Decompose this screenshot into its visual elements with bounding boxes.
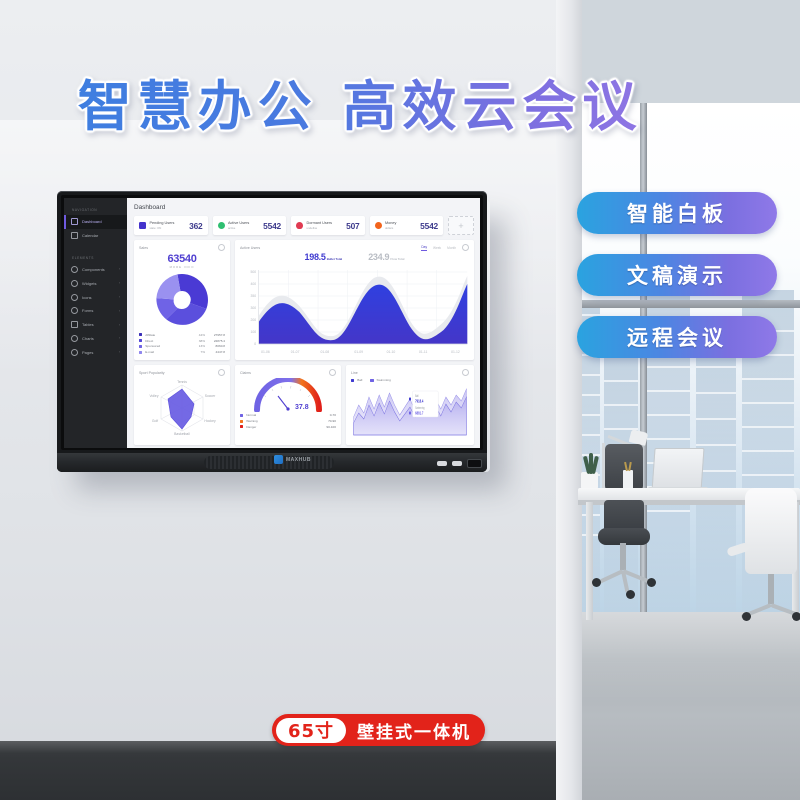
forms-icon: [71, 307, 78, 314]
svg-text:Soccer: Soccer: [205, 394, 216, 398]
stat-card-pending-users[interactable]: Pending Users state: ON 362: [134, 216, 208, 235]
sidebar-spacer: [64, 243, 127, 252]
main-content: Dashboard Pending Users state: ON 362: [127, 198, 480, 448]
sidebar-item-label: Components: [82, 267, 105, 272]
chart-row-2: Sport Popularity: [134, 365, 474, 445]
total-number: 234.9: [368, 252, 389, 262]
donut-chart-svg: [153, 271, 211, 329]
office-chair-white-back: [745, 488, 797, 574]
pen-cup: [623, 470, 633, 490]
chevron-right-icon: ›: [119, 350, 120, 354]
components-icon: [71, 266, 78, 273]
legend-label: E-mail: [145, 350, 191, 354]
page-heading: Dashboard: [134, 204, 474, 211]
legend-label: Ball: [357, 378, 362, 382]
legend-percent: 13%: [191, 344, 205, 348]
dormant-users-icon: [296, 222, 303, 229]
sidebar-item-label: Dashboard: [82, 219, 102, 224]
add-card-button[interactable]: +: [448, 216, 474, 235]
sidebar-item-label: Tables: [82, 322, 94, 327]
svg-text:350: 350: [250, 294, 256, 298]
stat-label: Active Users active: [228, 221, 249, 230]
stat-label: Pending Users state: ON: [150, 221, 175, 230]
svg-text:Tennis: Tennis: [177, 380, 187, 384]
sidebar-section-elements: ELEMENTS: [64, 252, 127, 263]
line-chart-card: Line Ball Swimming: [346, 365, 474, 445]
legend-label: Direct: [145, 339, 191, 343]
stat-subtitle: undefine: [307, 226, 318, 230]
feature-pill-presentation[interactable]: 文稿演示: [577, 254, 777, 296]
chair-caster-2: [592, 578, 601, 587]
chevron-right-icon: ›: [119, 309, 120, 313]
pages-icon: [71, 349, 78, 356]
widgets-icon: [71, 280, 78, 287]
office-floor-sheen: [556, 612, 800, 702]
card-header: Line: [351, 369, 469, 376]
sidebar-item-icons[interactable]: Icons ›: [64, 290, 127, 304]
totals-row: 198.5 Bullet Total 234.9 Flow Total: [240, 253, 469, 262]
sidebar-item-dashboard[interactable]: Dashboard: [64, 215, 127, 229]
sidebar-item-forms[interactable]: Forms ›: [64, 304, 127, 318]
legend-swatch: [240, 425, 243, 428]
svg-text:200: 200: [250, 318, 256, 322]
sidebar-item-label: Charts: [82, 336, 94, 341]
stat-value: 5542: [263, 221, 281, 231]
svg-text:Hockey: Hockey: [204, 419, 216, 423]
stat-title: Pending Users: [150, 221, 175, 225]
stat-value: 5542: [420, 221, 438, 231]
stat-card-money[interactable]: Money dollars 5542: [370, 216, 444, 235]
total-label: Bullet Total: [327, 257, 343, 261]
stat-card-dormant-users[interactable]: Dormant Users undefine 507: [291, 216, 365, 235]
legend-label: Normal: [246, 413, 316, 417]
card-header: Sport Popularity: [139, 369, 225, 376]
stat-label: Money dollars: [385, 221, 396, 230]
card-header: Sales: [139, 244, 225, 251]
poster-canvas: 智慧办公 高效云会议 智能白板 文稿演示 远程会议 65寸 壁挂式一体机 NAV…: [0, 0, 800, 800]
feature-pill-list: 智能白板 文稿演示 远程会议: [577, 192, 777, 378]
stat-subtitle: active: [228, 226, 235, 230]
svg-text:01-08: 01-08: [320, 350, 329, 354]
svg-text:0: 0: [254, 342, 256, 346]
sidebar-item-label: Icons: [82, 295, 92, 300]
svg-text:01-11: 01-11: [419, 350, 427, 354]
flow-total: 234.9 Flow Total: [368, 253, 404, 262]
legend-item-email: E-mail 7% 4447.8: [139, 349, 225, 355]
chair-caster-1: [647, 578, 656, 587]
gear-icon[interactable]: [462, 244, 469, 251]
legend-percent: 7%: [191, 350, 205, 354]
tab-week[interactable]: Week: [433, 246, 441, 250]
chevron-right-icon: ›: [119, 267, 120, 271]
legend-label: Sponsored: [145, 344, 191, 348]
brand-logo: MAXHUB: [274, 455, 311, 464]
legend-label: Swimming: [377, 378, 391, 382]
feature-pill-whiteboard[interactable]: 智能白板: [577, 192, 777, 234]
active-users-area-chart: 500400350 300200100 0 01-0601-0701-08 01…: [240, 264, 469, 356]
legend-swatch: [370, 379, 373, 382]
legend-percent: 38%: [191, 339, 205, 343]
legend-value: 4447.8: [205, 350, 225, 354]
logo-text: MAXHUB: [286, 457, 311, 463]
tab-day[interactable]: Day: [421, 245, 427, 251]
legend-swatch: [240, 414, 243, 417]
sidebar-item-calendar[interactable]: Calendar: [64, 229, 127, 243]
total-label: Flow Total: [390, 257, 404, 261]
chart-row-1: Sales 63540 MORE INFO: [134, 240, 474, 360]
laptop-screen: [651, 448, 704, 492]
badge-type-label: 壁挂式一体机: [357, 718, 471, 743]
gauge-legend-danger: Danger 90-100: [240, 424, 336, 430]
stat-value: 362: [189, 221, 202, 231]
stat-card-row: Pending Users state: ON 362 Active Users…: [134, 216, 474, 235]
hdmi-port: [467, 459, 482, 468]
pending-users-icon: [139, 222, 146, 229]
gear-icon[interactable]: [462, 369, 469, 376]
legend-swatch: [351, 379, 354, 382]
svg-text:01-10: 01-10: [387, 350, 396, 354]
chevron-right-icon: ›: [119, 281, 120, 285]
bullet-total: 198.5 Bullet Total: [305, 253, 343, 262]
svg-text:400: 400: [250, 282, 256, 286]
radar-chart: Tennis Soccer Hockey Basketball Golf Vol…: [139, 378, 225, 436]
stat-subtitle: state: ON: [150, 226, 162, 230]
sidebar-item-tables[interactable]: Tables ›: [64, 318, 127, 332]
donut-chart: [139, 271, 225, 329]
sidebar-item-label: Pages: [82, 350, 93, 355]
feature-pill-remote-meeting[interactable]: 远程会议: [577, 316, 777, 358]
sidebar-item-label: Calendar: [82, 233, 98, 238]
chair-caster-3: [626, 590, 635, 599]
charts-icon: [71, 335, 78, 342]
tab-month[interactable]: Month: [447, 246, 456, 250]
dashboard-app: NAVIGATION Dashboard Calendar ELEMENTS C…: [64, 198, 480, 448]
office-chair-dark-pole: [620, 543, 626, 570]
legend-swatch: [139, 333, 142, 336]
card-header: Active Users Day Week Month: [240, 244, 469, 251]
svg-text:Golf: Golf: [152, 419, 158, 423]
sport-popularity-card: Sport Popularity: [134, 365, 230, 445]
legend-value: 8060.8: [205, 344, 225, 348]
legend-range: 70-90: [316, 419, 336, 423]
stat-card-active-users[interactable]: Active Users active 5542: [213, 216, 287, 235]
tables-icon: [71, 321, 78, 328]
sales-total: 63540: [139, 253, 225, 265]
legend-label: Warning: [246, 419, 316, 423]
stat-title: Active Users: [228, 221, 249, 225]
sidebar-item-widgets[interactable]: Widgets ›: [64, 276, 127, 290]
stat-title: Dormant Users: [307, 221, 333, 225]
line-legend: Ball Swimming: [351, 378, 469, 382]
home-icon: [71, 218, 78, 225]
legend-swatch: [240, 420, 243, 423]
active-users-card: Active Users Day Week Month: [235, 240, 474, 360]
office-chair-white-pole: [768, 574, 774, 604]
sidebar-item-charts[interactable]: Charts ›: [64, 331, 127, 345]
sales-card: Sales 63540 MORE INFO: [134, 240, 230, 360]
svg-text:500: 500: [250, 270, 256, 274]
sidebar-section-navigation: NAVIGATION: [64, 204, 127, 215]
legend-range: 90-100: [316, 425, 336, 429]
svg-text:6881.7: 6881.7: [415, 411, 423, 416]
legend-swatch: [139, 339, 142, 342]
icons-icon: [71, 294, 78, 301]
stat-value: 507: [346, 221, 359, 231]
legend-swatch: [139, 351, 142, 354]
svg-text:Swimming: Swimming: [415, 406, 425, 411]
svg-text:Basketball: Basketball: [174, 432, 190, 436]
active-users-icon: [218, 222, 225, 229]
legend-percent: 44%: [191, 333, 205, 337]
sidebar-item-label: Widgets: [82, 281, 96, 286]
legend-label: Affiliate: [145, 333, 191, 337]
range-tabs: Day Week Month: [421, 244, 469, 251]
gear-icon[interactable]: [218, 369, 225, 376]
legend-value: 22875.4: [205, 339, 225, 343]
stat-subtitle: dollars: [385, 226, 393, 230]
card-header: Claims: [240, 369, 336, 376]
white-chair-caster-2: [792, 612, 800, 621]
desk-leg-left: [586, 502, 593, 620]
sidebar-item-components[interactable]: Components ›: [64, 263, 127, 277]
badge-size-label: 65寸: [276, 718, 346, 743]
total-number: 198.5: [305, 252, 326, 262]
white-chair-caster-1: [742, 612, 751, 621]
page-title: 智慧办公 高效云会议: [0, 62, 720, 141]
svg-text:01-09: 01-09: [354, 350, 363, 354]
usb-port-2: [452, 461, 462, 466]
sidebar-item-label: Forms: [82, 308, 93, 313]
product-badge: 65寸 壁挂式一体机: [272, 714, 485, 746]
svg-text:7918.4: 7918.4: [415, 399, 423, 404]
svg-text:100: 100: [250, 330, 256, 334]
speaker-grille: [204, 456, 334, 469]
card-title: Active Users: [240, 246, 260, 250]
card-title: Sport Popularity: [139, 371, 165, 375]
legend-range: 0-70: [316, 413, 336, 417]
wall-mounted-display: NAVIGATION Dashboard Calendar ELEMENTS C…: [57, 191, 487, 472]
svg-text:01-06: 01-06: [261, 350, 270, 354]
money-icon: [375, 222, 382, 229]
gauge-chart: 37.8: [240, 378, 336, 412]
chevron-right-icon: ›: [119, 323, 120, 327]
card-title: Claims: [240, 371, 251, 375]
sidebar-item-pages[interactable]: Pages ›: [64, 345, 127, 359]
legend-swatch: [139, 345, 142, 348]
gear-icon[interactable]: [218, 244, 225, 251]
svg-text:Volley: Volley: [149, 394, 158, 398]
logo-mark-icon: [274, 455, 283, 464]
svg-text:37.8: 37.8: [295, 404, 309, 411]
card-title: Sales: [139, 246, 148, 250]
svg-text:01-07: 01-07: [291, 350, 300, 354]
legend-label: Danger: [246, 425, 316, 429]
sidebar: NAVIGATION Dashboard Calendar ELEMENTS C…: [64, 198, 127, 448]
stat-title: Money: [385, 221, 396, 225]
display-ports: [437, 459, 482, 468]
legend-value: 27957.8: [205, 333, 225, 337]
calendar-icon: [71, 232, 78, 239]
svg-text:01-12: 01-12: [451, 350, 460, 354]
chevron-right-icon: ›: [119, 336, 120, 340]
usb-port-1: [437, 461, 447, 466]
svg-text:300: 300: [250, 306, 256, 310]
stat-label: Dormant Users undefine: [307, 221, 333, 230]
sales-more-info: MORE INFO: [139, 265, 225, 269]
svg-text:Ball: Ball: [415, 394, 419, 399]
card-title: Line: [351, 371, 358, 375]
display-screen: NAVIGATION Dashboard Calendar ELEMENTS C…: [64, 198, 480, 448]
gear-icon[interactable]: [329, 369, 336, 376]
legend-item-ball: Ball: [351, 378, 362, 382]
claims-gauge-card: Claims: [235, 365, 341, 445]
chevron-right-icon: ›: [119, 295, 120, 299]
legend-item-swimming: Swimming: [370, 378, 390, 382]
plant-pot: [581, 472, 598, 489]
line-area-chart: Ball 7918.4 Swimming 6881.7: [351, 383, 469, 441]
